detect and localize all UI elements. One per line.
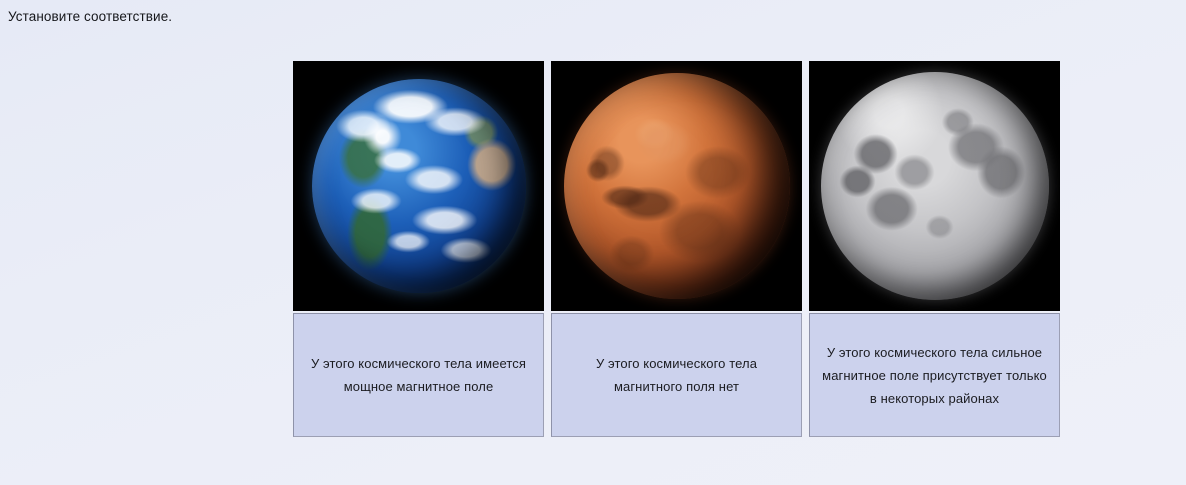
caption-box-mars[interactable]: У этого космического тела магнитного пол… <box>551 313 802 437</box>
image-panel-moon[interactable] <box>809 61 1060 311</box>
image-panel-earth[interactable] <box>293 61 544 311</box>
match-column-1: У этого космического тела имеется мощное… <box>293 61 544 437</box>
mars-planet-image <box>564 73 790 299</box>
moon-body-image <box>821 72 1049 300</box>
mars-image-wrap <box>551 61 802 311</box>
match-column-2: У этого космического тела магнитного пол… <box>551 61 802 437</box>
earth-planet-image <box>312 79 526 293</box>
earth-image-wrap <box>293 61 544 311</box>
caption-text-mars: У этого космического тела магнитного пол… <box>562 352 791 398</box>
match-column-3: У этого космического тела сильное магнит… <box>809 61 1060 437</box>
caption-box-moon[interactable]: У этого космического тела сильное магнит… <box>809 313 1060 437</box>
image-panel-mars[interactable] <box>551 61 802 311</box>
matching-grid: У этого космического тела имеется мощное… <box>293 61 1060 437</box>
caption-text-earth: У этого космического тела имеется мощное… <box>304 352 533 398</box>
caption-text-moon: У этого космического тела сильное магнит… <box>820 341 1049 410</box>
moon-image-wrap <box>809 61 1060 311</box>
caption-box-earth[interactable]: У этого космического тела имеется мощное… <box>293 313 544 437</box>
page-title: Установите соответствие. <box>8 9 172 25</box>
